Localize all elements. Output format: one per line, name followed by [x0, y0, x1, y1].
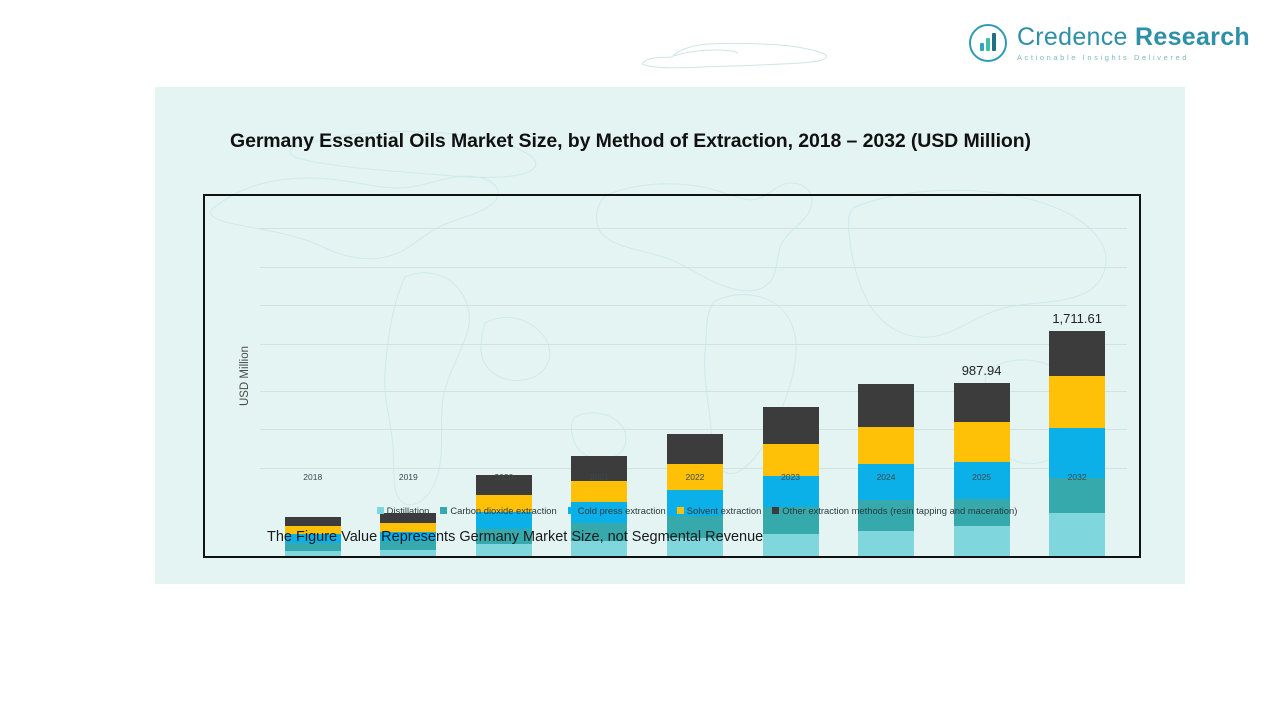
legend-item-cold-press-extraction[interactable]: Cold press extraction — [568, 505, 666, 516]
bar-value-label: 987.94 — [962, 363, 1002, 378]
x-tick-2020: 2020 — [457, 472, 551, 492]
chart-title: Germany Essential Oils Market Size, by M… — [230, 130, 1031, 153]
chart-footnote: The Figure Value Represents Germany Mark… — [267, 529, 763, 545]
segment-cold-press-extraction — [1049, 428, 1105, 478]
stacked-bar[interactable] — [954, 383, 1010, 556]
legend-swatch-solvent-extraction — [677, 507, 684, 514]
x-tick-2018: 2018 — [266, 472, 360, 492]
segment-other-extraction-methods — [667, 434, 723, 464]
segment-distillation — [285, 551, 341, 556]
legend-swatch-other-extraction-methods — [772, 507, 779, 514]
x-axis-ticks: 2018 2019 2020 2021 2022 2023 2024 2025 … — [265, 472, 1125, 492]
segment-other-extraction-methods — [1049, 331, 1105, 376]
segment-distillation — [858, 531, 914, 556]
x-tick-2019: 2019 — [361, 472, 455, 492]
x-tick-2023: 2023 — [744, 472, 838, 492]
x-tick-2021: 2021 — [552, 472, 646, 492]
segment-distillation — [380, 550, 436, 556]
legend-swatch-distillation — [377, 507, 384, 514]
brand-logo[interactable]: Credence Research Actionable Insights De… — [969, 24, 1250, 62]
legend-swatch-carbon-dioxide-extraction — [440, 507, 447, 514]
x-tick-2022: 2022 — [648, 472, 742, 492]
legend-item-other-extraction-methods[interactable]: Other extraction methods (resin tapping … — [772, 505, 1017, 516]
chart-legend: Distillation Carbon dioxide extraction C… — [265, 501, 1129, 519]
legend-item-distillation[interactable]: Distillation — [377, 505, 430, 516]
brand-tagline: Actionable Insights Delivered — [1017, 54, 1250, 62]
chart-frame: USD Million — [203, 194, 1141, 558]
legend-label: Cold press extraction — [578, 505, 666, 516]
chart-panel: Germany Essential Oils Market Size, by M… — [155, 87, 1185, 584]
segment-other-extraction-methods — [858, 384, 914, 427]
legend-item-solvent-extraction[interactable]: Solvent extraction — [677, 505, 762, 516]
brand-name-bold: Research — [1128, 23, 1250, 51]
legend-label: Solvent extraction — [687, 505, 762, 516]
legend-swatch-cold-press-extraction — [568, 507, 575, 514]
segment-distillation — [763, 534, 819, 556]
screenshot-root: Credence Research Actionable Insights De… — [0, 0, 1280, 720]
segment-distillation — [954, 526, 1010, 556]
segment-solvent-extraction — [954, 422, 1010, 462]
legend-label: Carbon dioxide extraction — [450, 505, 556, 516]
x-tick-2025: 2025 — [935, 472, 1029, 492]
bar-value-label: 1,711.61 — [1052, 311, 1102, 326]
brand-name-light: Credence — [1017, 23, 1128, 51]
bar-chart-circle-icon — [969, 24, 1007, 62]
legend-item-carbon-dioxide-extraction[interactable]: Carbon dioxide extraction — [440, 505, 556, 516]
segment-distillation — [1049, 513, 1105, 556]
segment-distillation — [476, 544, 532, 556]
segment-other-extraction-methods — [954, 383, 1010, 422]
segment-solvent-extraction — [858, 427, 914, 464]
decorative-map-outline-icon — [630, 34, 840, 76]
x-tick-2032: 2032 — [1030, 472, 1124, 492]
legend-label: Distillation — [387, 505, 430, 516]
segment-other-extraction-methods — [763, 407, 819, 444]
brand-wordmark: Credence Research Actionable Insights De… — [1017, 25, 1250, 62]
stacked-bar[interactable] — [858, 384, 914, 556]
segment-solvent-extraction — [1049, 376, 1105, 428]
y-axis-label: USD Million — [239, 346, 251, 406]
x-tick-2024: 2024 — [839, 472, 933, 492]
legend-label: Other extraction methods (resin tapping … — [782, 505, 1017, 516]
stacked-bar[interactable] — [1049, 331, 1105, 556]
